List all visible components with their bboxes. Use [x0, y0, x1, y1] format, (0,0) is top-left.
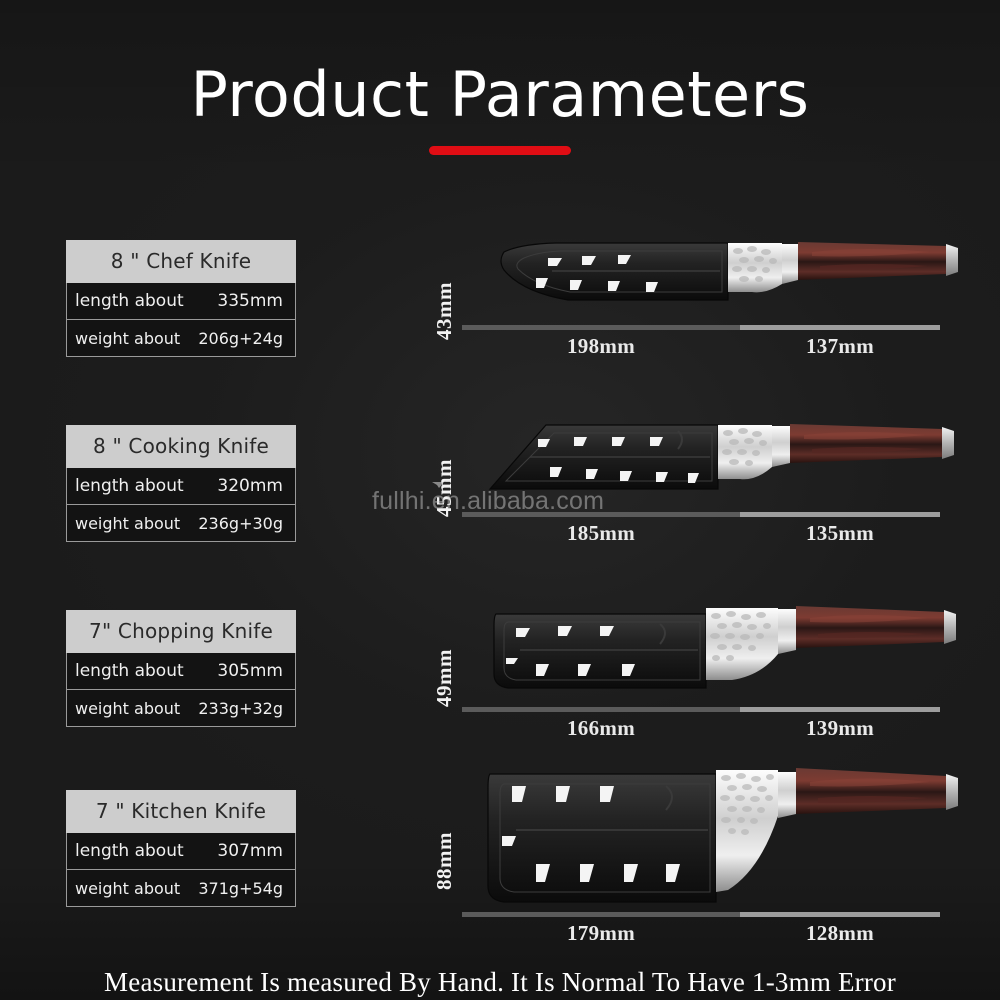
- spec-value-length: 335mm: [217, 291, 287, 311]
- measurement-segment-blade: [462, 325, 740, 330]
- spec-row-length: length about 305mm: [66, 653, 296, 690]
- footer-disclaimer: Measurement Is measured By Hand. It Is N…: [0, 967, 1000, 998]
- product-row-chef-knife: 8 " Chef Knife length about 335mm weight…: [0, 222, 1000, 402]
- measurement-segment-blade: [462, 707, 740, 712]
- spec-label-weight: weight about: [75, 879, 180, 898]
- spec-label-weight: weight about: [75, 514, 180, 533]
- knife-figure-kitchen: 88mm: [420, 760, 980, 960]
- cooking-knife-art: [460, 407, 980, 527]
- measurement-segment-handle: [740, 912, 940, 917]
- knife-figure-chopping: 49mm: [420, 592, 980, 772]
- handle-length-label: 137mm: [740, 334, 940, 359]
- product-row-cooking-knife: 8 " Cooking Knife length about 320mm wei…: [0, 407, 1000, 587]
- spec-value-weight: 206g+24g: [198, 329, 287, 348]
- blade-length-label: 185mm: [462, 521, 740, 546]
- spec-row-weight: weight about 233g+32g: [66, 690, 296, 727]
- spec-row-weight: weight about 236g+30g: [66, 505, 296, 542]
- knife-figure-chef: 43mm: [420, 222, 980, 402]
- spec-row-length: length about 307mm: [66, 833, 296, 870]
- product-parameters-infographic: Product Parameters 8 " Chef Knife length…: [0, 0, 1000, 1000]
- header: Product Parameters: [0, 58, 1000, 155]
- spec-title: 8 " Cooking Knife: [66, 425, 296, 468]
- height-label: 88mm: [432, 832, 457, 890]
- spec-title: 7 " Kitchen Knife: [66, 790, 296, 833]
- spec-value-weight: 236g+30g: [198, 514, 287, 533]
- chef-knife-art: [460, 222, 980, 342]
- product-row-kitchen-knife: 7 " Kitchen Knife length about 307mm wei…: [0, 760, 1000, 960]
- measurement-bar: [462, 707, 940, 712]
- height-label: 49mm: [432, 649, 457, 707]
- spec-table-chopping-knife: 7" Chopping Knife length about 305mm wei…: [66, 610, 296, 727]
- spec-label-weight: weight about: [75, 699, 180, 718]
- measurement-segment-handle: [740, 325, 940, 330]
- knife-illustration-chef: [460, 222, 980, 402]
- title-accent-rule: [429, 146, 571, 155]
- spec-label-length: length about: [75, 841, 184, 861]
- product-row-chopping-knife: 7" Chopping Knife length about 305mm wei…: [0, 592, 1000, 772]
- spec-table-chef-knife: 8 " Chef Knife length about 335mm weight…: [66, 240, 296, 357]
- spec-value-weight: 233g+32g: [198, 699, 287, 718]
- spec-row-weight: weight about 371g+54g: [66, 870, 296, 907]
- chopping-knife-art: [460, 592, 980, 717]
- knife-figure-cooking: 45mm: [420, 407, 980, 587]
- blade-length-label: 166mm: [462, 716, 740, 741]
- spec-value-length: 320mm: [217, 476, 287, 496]
- blade-length-label: 198mm: [462, 334, 740, 359]
- height-label: 43mm: [432, 282, 457, 340]
- spec-row-weight: weight about 206g+24g: [66, 320, 296, 357]
- spec-label-length: length about: [75, 476, 184, 496]
- handle-length-label: 139mm: [740, 716, 940, 741]
- page-title: Product Parameters: [0, 58, 1000, 132]
- blade-length-label: 179mm: [462, 921, 740, 946]
- spec-title: 8 " Chef Knife: [66, 240, 296, 283]
- knife-illustration-cooking: [460, 407, 980, 587]
- measurement-segment-handle: [740, 707, 940, 712]
- spec-row-length: length about 320mm: [66, 468, 296, 505]
- spec-title: 7" Chopping Knife: [66, 610, 296, 653]
- measurement-segment-blade: [462, 512, 740, 517]
- spec-table-kitchen-knife: 7 " Kitchen Knife length about 307mm wei…: [66, 790, 296, 907]
- spec-row-length: length about 335mm: [66, 283, 296, 320]
- handle-length-label: 128mm: [740, 921, 940, 946]
- height-label: 45mm: [432, 459, 457, 517]
- spec-value-weight: 371g+54g: [198, 879, 287, 898]
- spec-label-length: length about: [75, 291, 184, 311]
- measurement-bar: [462, 512, 940, 517]
- spec-label-length: length about: [75, 661, 184, 681]
- spec-value-length: 305mm: [217, 661, 287, 681]
- spec-value-length: 307mm: [217, 841, 287, 861]
- measurement-segment-blade: [462, 912, 740, 917]
- measurement-bar: [462, 325, 940, 330]
- knife-illustration-chopping: [460, 592, 980, 772]
- spec-label-weight: weight about: [75, 329, 180, 348]
- kitchen-cleaver-art: [460, 760, 980, 920]
- measurement-bar: [462, 912, 940, 917]
- handle-length-label: 135mm: [740, 521, 940, 546]
- spec-table-cooking-knife: 8 " Cooking Knife length about 320mm wei…: [66, 425, 296, 542]
- measurement-segment-handle: [740, 512, 940, 517]
